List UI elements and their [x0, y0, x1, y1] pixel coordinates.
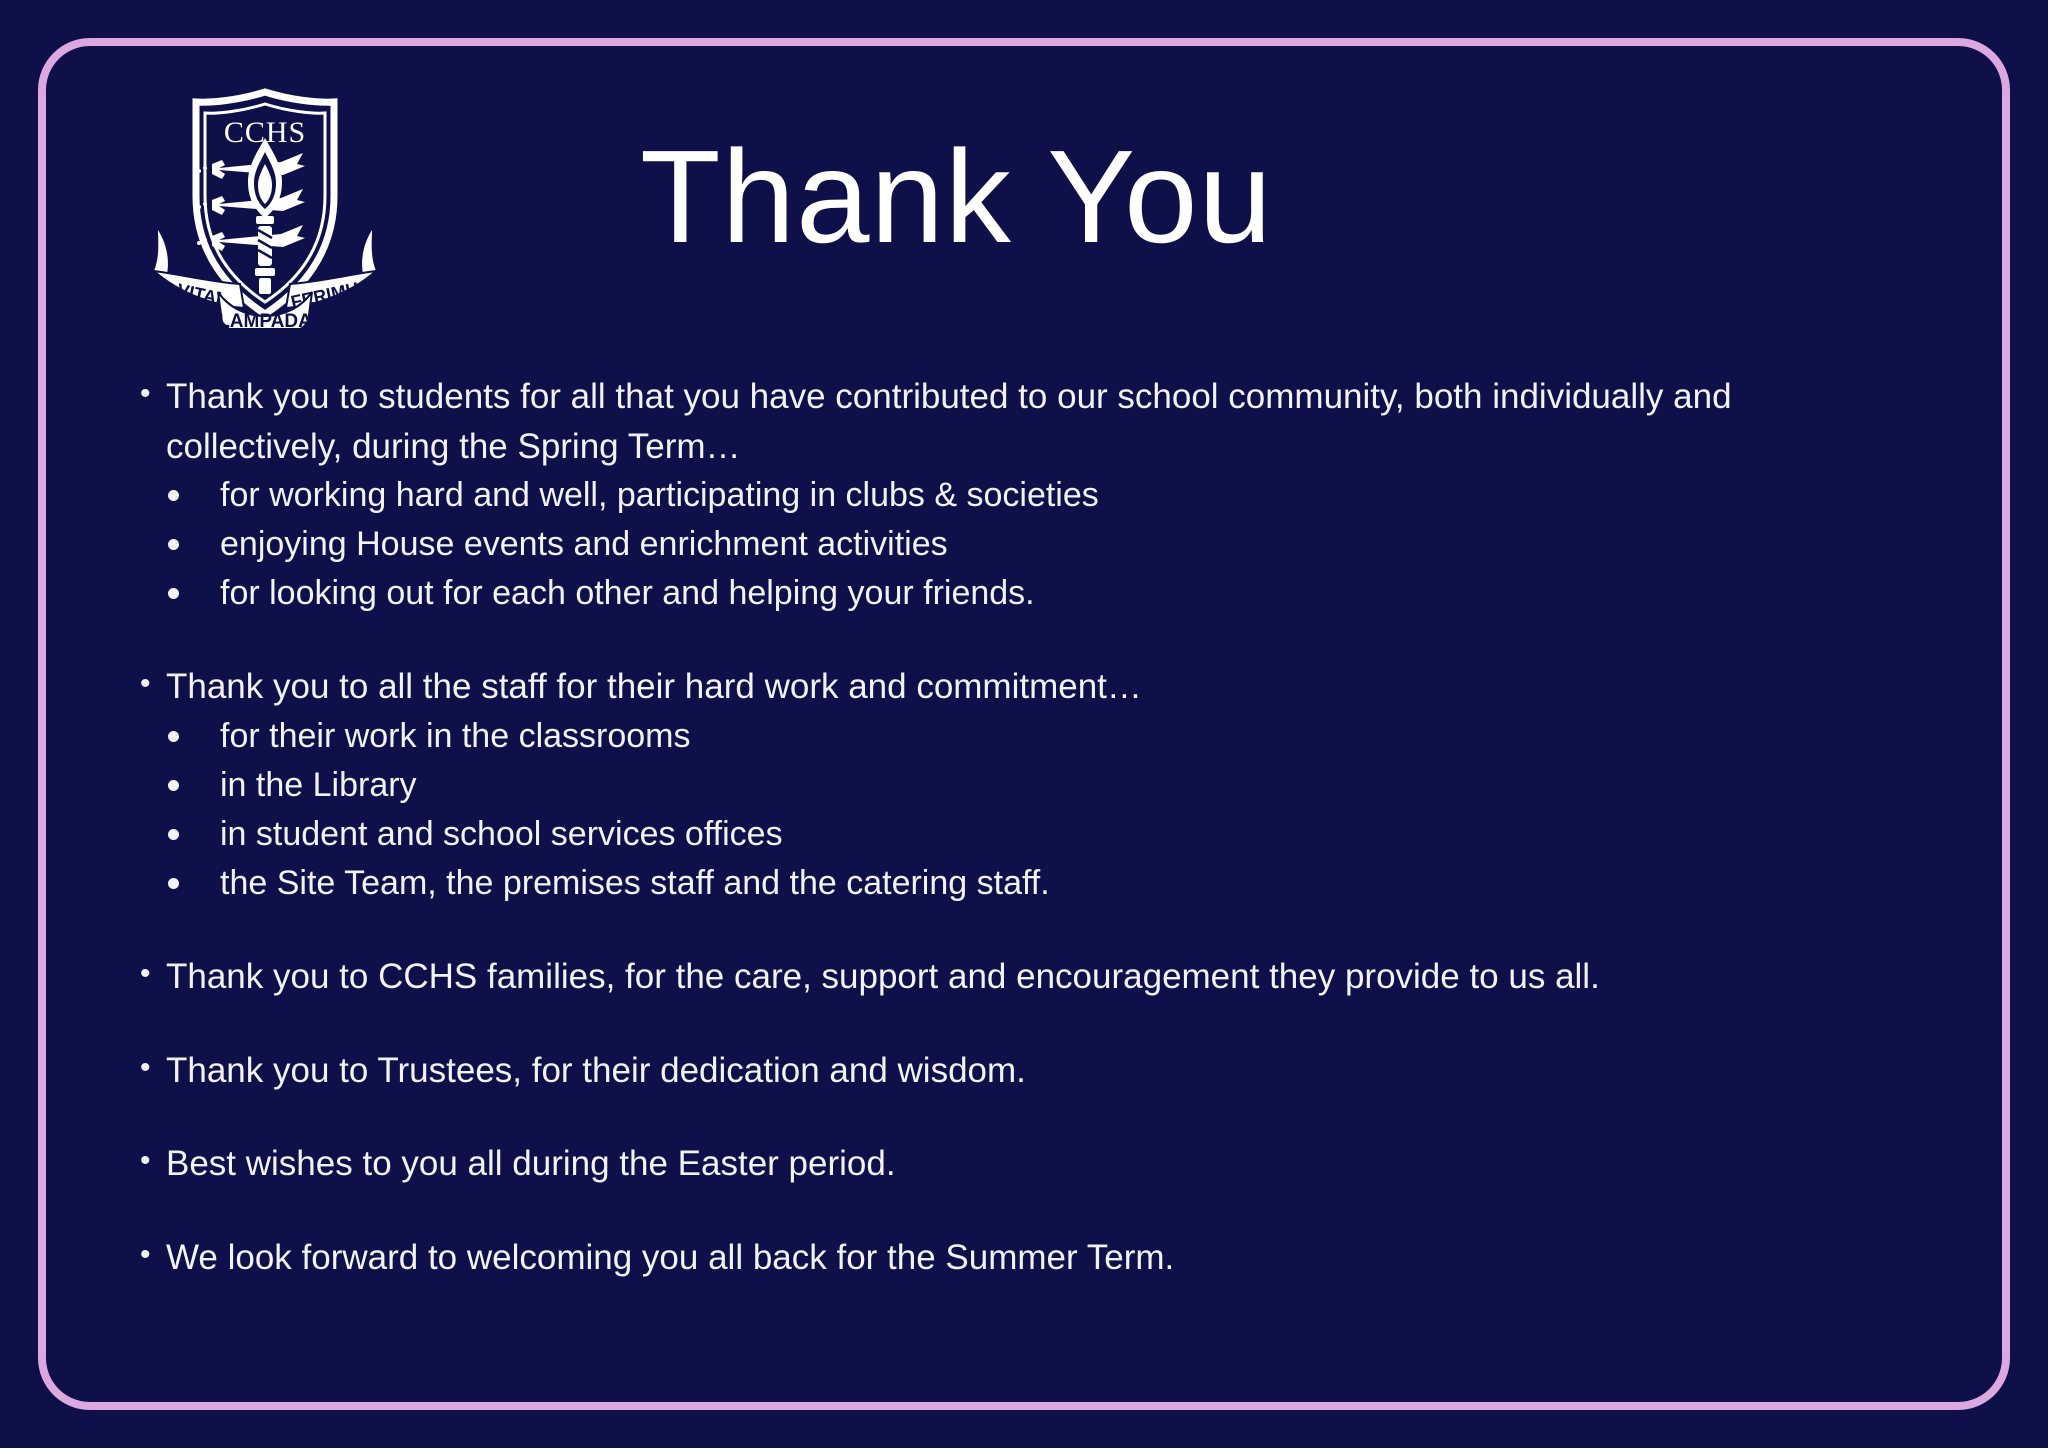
bullet-dot-icon — [168, 569, 220, 618]
bullet-best-wishes: • Best wishes to you all during the East… — [140, 1139, 1900, 1189]
bullet-lead-text: Thank you to students for all that you h… — [166, 372, 1866, 471]
bullet-lead-staff: • Thank you to all the staff for their h… — [140, 662, 1900, 712]
sub-list-students: for working hard and well, participating… — [140, 471, 1900, 618]
bullet-text: Thank you to CCHS families, for the care… — [166, 952, 1866, 1002]
bullet-marker-icon: • — [140, 1046, 166, 1090]
bullet-dot-icon — [168, 859, 220, 908]
bullet-dot-icon — [168, 712, 220, 761]
list-item-label: the Site Team, the premises staff and th… — [220, 859, 1900, 908]
bullet-marker-icon: • — [140, 1233, 166, 1277]
bullet-marker-icon: • — [140, 662, 166, 706]
bullet-dot-icon — [168, 471, 220, 520]
spacer — [140, 1189, 1900, 1233]
bullet-text: Thank you to Trustees, for their dedicat… — [166, 1046, 1866, 1096]
slide-body-content: • Thank you to students for all that you… — [140, 372, 1900, 1283]
slide-header: CCHS — [0, 0, 2048, 330]
spacer — [140, 908, 1900, 952]
bullet-dot-icon — [168, 761, 220, 810]
bullet-lead-text: Thank you to all the staff for their har… — [166, 662, 1866, 712]
list-item-label: for looking out for each other and helpi… — [220, 569, 1900, 618]
bullet-trustees: • Thank you to Trustees, for their dedic… — [140, 1046, 1900, 1096]
list-item: the Site Team, the premises staff and th… — [140, 859, 1900, 908]
bullet-text: Best wishes to you all during the Easter… — [166, 1139, 1866, 1189]
bullet-marker-icon: • — [140, 372, 166, 416]
spacer — [140, 618, 1900, 662]
spacer — [140, 1002, 1900, 1046]
cchs-crest-icon: CCHS — [140, 78, 390, 328]
page-title: Thank You — [640, 128, 1273, 267]
list-item-label: in the Library — [220, 761, 1900, 810]
bullet-dot-icon — [168, 520, 220, 569]
list-item-label: for their work in the classrooms — [220, 712, 1900, 761]
bullet-text: We look forward to welcoming you all bac… — [166, 1233, 1866, 1283]
bullet-marker-icon: • — [140, 1139, 166, 1183]
bullet-marker-icon: • — [140, 952, 166, 996]
list-item: for looking out for each other and helpi… — [140, 569, 1900, 618]
list-item: in student and school services offices — [140, 810, 1900, 859]
bullet-families: • Thank you to CCHS families, for the ca… — [140, 952, 1900, 1002]
sub-list-staff: for their work in the classrooms in the … — [140, 712, 1900, 908]
list-item: for working hard and well, participating… — [140, 471, 1900, 520]
bullet-dot-icon — [168, 810, 220, 859]
list-item-label: in student and school services offices — [220, 810, 1900, 859]
list-item-label: enjoying House events and enrichment act… — [220, 520, 1900, 569]
list-item: enjoying House events and enrichment act… — [140, 520, 1900, 569]
list-item-label: for working hard and well, participating… — [220, 471, 1900, 520]
section-staff: • Thank you to all the staff for their h… — [140, 662, 1900, 908]
list-item: for their work in the classrooms — [140, 712, 1900, 761]
spacer — [140, 1095, 1900, 1139]
bullet-lead-students: • Thank you to students for all that you… — [140, 372, 1900, 471]
list-item: in the Library — [140, 761, 1900, 810]
bullet-summer-term: • We look forward to welcoming you all b… — [140, 1233, 1900, 1283]
section-students: • Thank you to students for all that you… — [140, 372, 1900, 618]
svg-text:LAMPADA: LAMPADA — [218, 311, 312, 328]
